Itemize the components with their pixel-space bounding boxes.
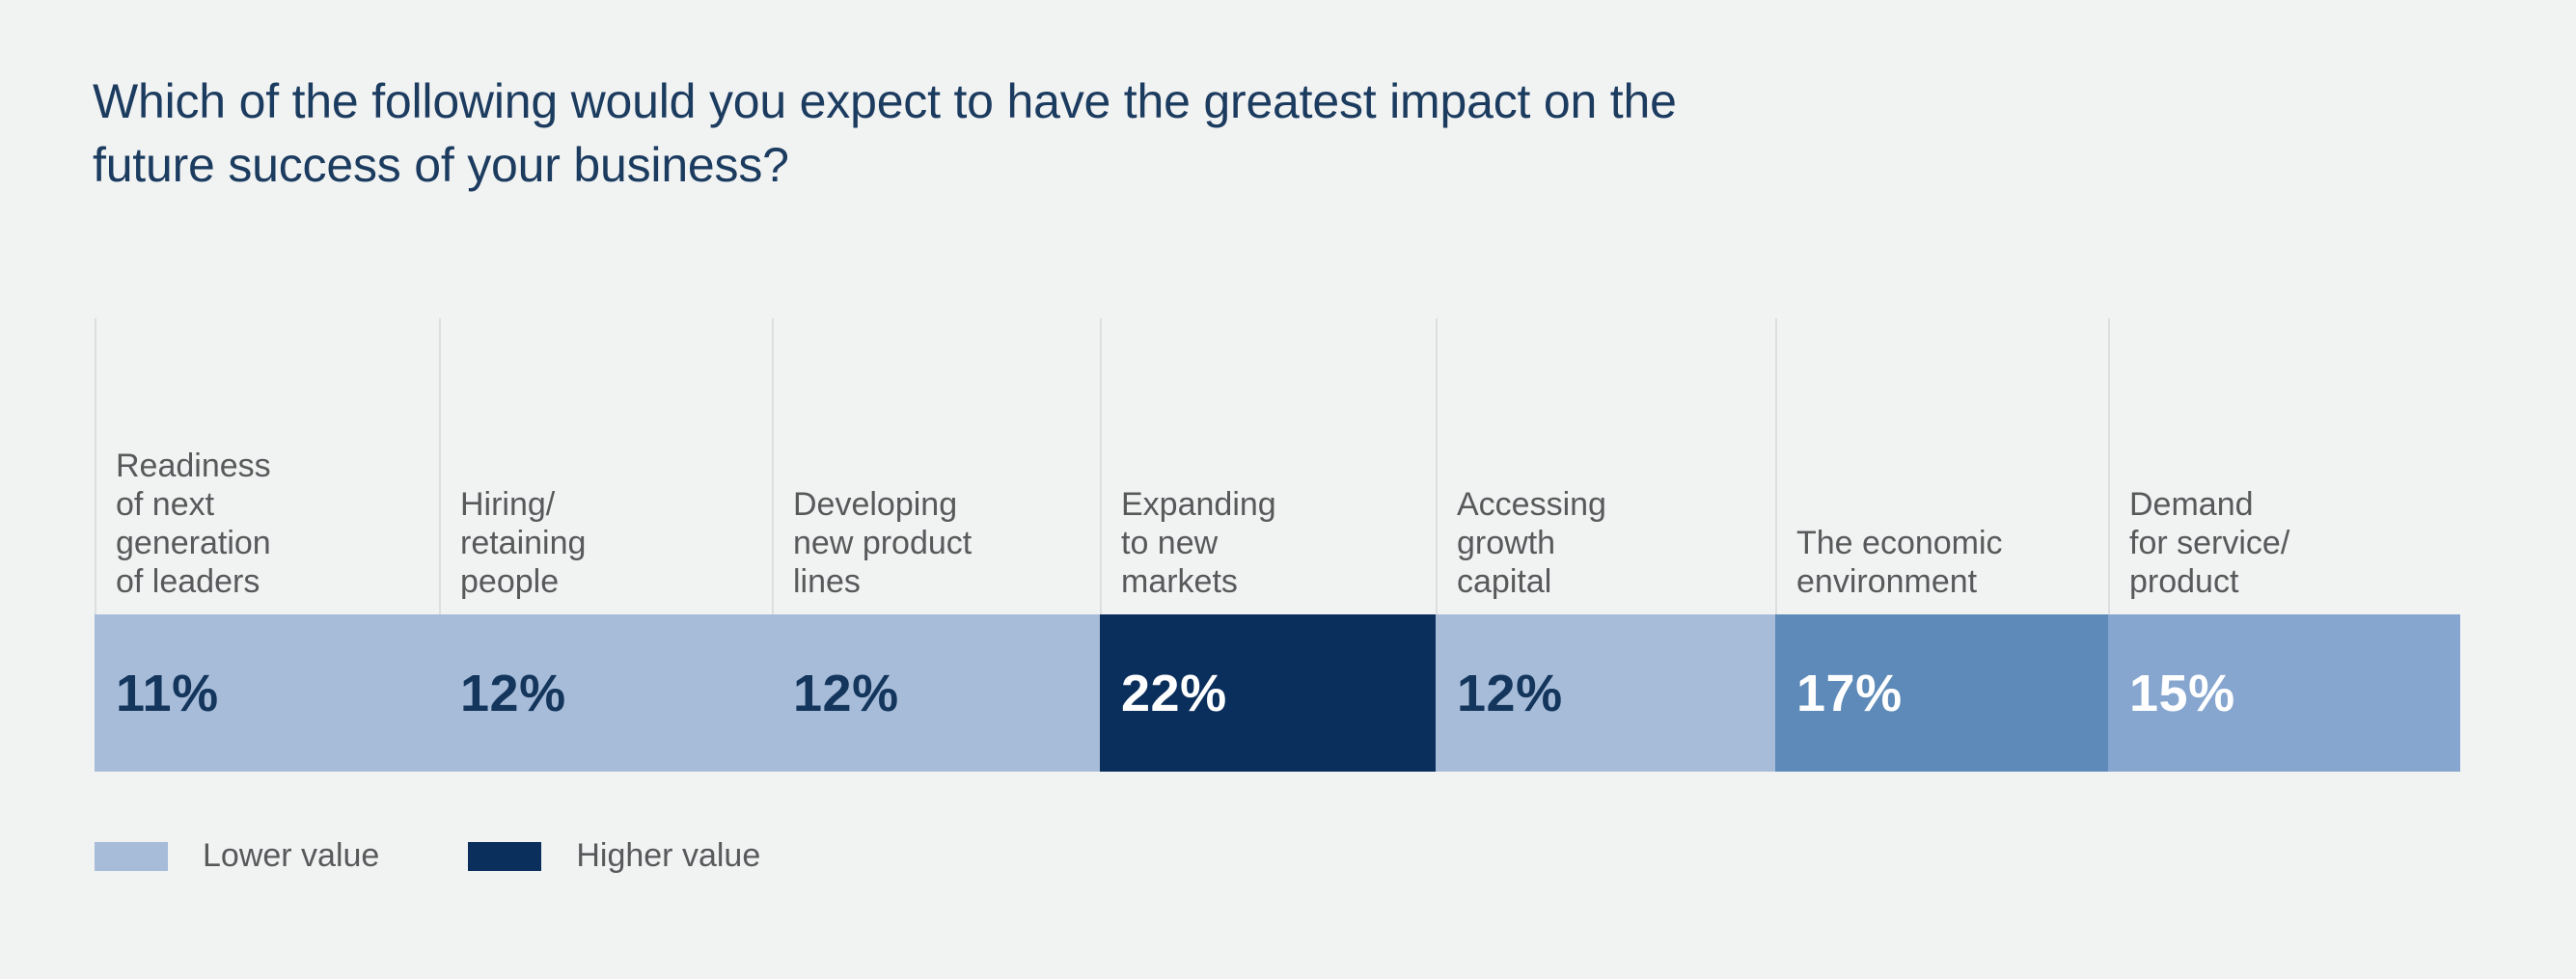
column-value-cell[interactable]: 15%	[2108, 614, 2460, 772]
legend-swatch-higher-icon	[468, 842, 541, 871]
column-value-cell[interactable]: 12%	[1436, 614, 1775, 772]
chart-column-expanding-to-new-markets[interactable]: Expanding to new markets 22%	[1100, 318, 1436, 772]
column-header: Demand for service/ product	[2108, 318, 2460, 614]
chart-column-developing-new-product-lines[interactable]: Developing new product lines 12%	[772, 318, 1100, 772]
column-value-label: 12%	[793, 667, 899, 720]
column-header-label: Readiness of next generation of leaders	[116, 447, 439, 601]
column-header: Expanding to new markets	[1100, 318, 1436, 614]
chart-column-readiness-of-next-generation-of-leaders[interactable]: Readiness of next generation of leaders …	[95, 318, 439, 772]
column-value-cell-highlighted[interactable]: 22%	[1100, 614, 1436, 772]
chart-column-accessing-growth-capital[interactable]: Accessing growth capital 12%	[1436, 318, 1775, 772]
column-value-label: 12%	[460, 667, 566, 720]
page-title: Which of the following would you expect …	[93, 69, 2022, 197]
survey-bar-chart: Readiness of next generation of leaders …	[95, 318, 2460, 772]
column-value-cell[interactable]: 11%	[95, 614, 439, 772]
column-value-cell[interactable]: 17%	[1775, 614, 2108, 772]
chart-column-demand-for-service-product[interactable]: Demand for service/ product 15%	[2108, 318, 2460, 772]
column-value-label: 12%	[1457, 667, 1563, 720]
column-value-label: 17%	[1796, 667, 1903, 720]
column-header-label: Accessing growth capital	[1457, 485, 1775, 601]
column-header-label: Developing new product lines	[793, 485, 1100, 601]
column-header: The economic environment	[1775, 318, 2108, 614]
column-value-label: 22%	[1121, 667, 1227, 720]
column-header-label: Demand for service/ product	[2129, 485, 2460, 601]
chart-columns: Readiness of next generation of leaders …	[95, 318, 2460, 772]
column-header: Developing new product lines	[772, 318, 1100, 614]
column-header: Readiness of next generation of leaders	[95, 318, 439, 614]
column-header-label: Expanding to new markets	[1121, 485, 1436, 601]
chart-column-hiring-retaining-people[interactable]: Hiring/ retaining people 12%	[439, 318, 772, 772]
column-header-label: The economic environment	[1796, 524, 2108, 601]
chart-legend: Lower value Higher value	[95, 837, 849, 875]
column-value-cell[interactable]: 12%	[772, 614, 1100, 772]
chart-column-the-economic-environment[interactable]: The economic environment 17%	[1775, 318, 2108, 772]
legend-label-lower: Lower value	[203, 837, 379, 875]
legend-label-higher: Higher value	[576, 837, 760, 875]
column-header: Hiring/ retaining people	[439, 318, 772, 614]
column-value-label: 11%	[116, 667, 219, 720]
legend-item-lower-value: Lower value	[95, 837, 379, 875]
column-header: Accessing growth capital	[1436, 318, 1775, 614]
column-value-label: 15%	[2129, 667, 2235, 720]
column-value-cell[interactable]: 12%	[439, 614, 772, 772]
legend-item-higher-value: Higher value	[468, 837, 760, 875]
chart-page: Which of the following would you expect …	[0, 0, 2576, 979]
legend-swatch-lower-icon	[95, 842, 168, 871]
column-header-label: Hiring/ retaining people	[460, 485, 772, 601]
